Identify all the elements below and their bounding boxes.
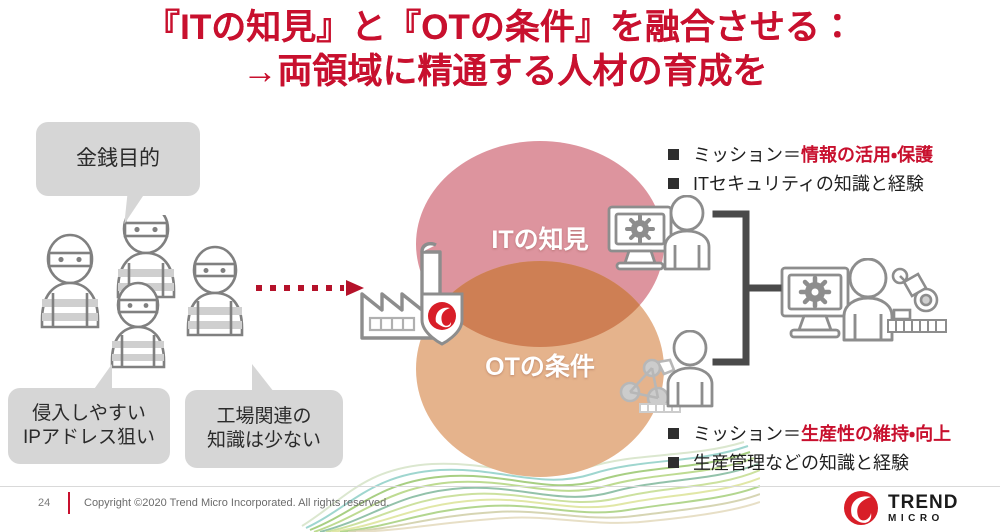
footer-divider: [0, 486, 1000, 487]
bullet-ot-skill: 生産管理などの知識と経験: [693, 449, 909, 475]
bullet-square-icon: [668, 428, 679, 439]
bullet-it-mission-highlight: 情報の活用・保護: [801, 145, 933, 165]
bullet-square-icon: [668, 178, 679, 189]
bubble-ip-line1: 侵入しやすい: [32, 403, 146, 424]
bullet-it-mission-prefix: ミッション＝: [693, 145, 801, 165]
bubble-factory-knowledge: 工場関連の 知識は少ない: [185, 390, 343, 468]
bubble-factory-line2: 知識は少ない: [207, 430, 321, 451]
hacker-figure-icon: [188, 247, 242, 335]
page-number: 24: [38, 497, 50, 509]
bullet-item: ミッション＝生産性の維持・向上: [668, 420, 951, 446]
bullet-item: ITセキュリティの知識と経験: [668, 170, 933, 196]
bubble-factory-line1: 工場関連の: [216, 406, 311, 427]
bullet-ot-mission-highlight: 生産性の維持・向上: [801, 424, 951, 444]
combined-it-ot-icon: [778, 258, 948, 358]
merge-bracket-icon: [712, 208, 792, 368]
bubble-money: 金銭目的: [36, 122, 200, 196]
title-line-1: 『ITの知見』と『OTの条件』を融合させる：: [0, 6, 1000, 50]
gear-icon: [801, 278, 829, 306]
bubble-money-text: 金銭目的: [68, 146, 168, 173]
trend-micro-logo-icon: TREND MICRO: [842, 488, 982, 528]
bullet-square-icon: [668, 149, 679, 160]
hacker-figure-icon: [42, 235, 98, 327]
slide-canvas: 『ITの知見』と『OTの条件』を融合させる： →両領域に精通する人材の育成を: [0, 0, 1000, 532]
footer-accent-rule: [68, 492, 70, 514]
bullet-square-icon: [668, 457, 679, 468]
page-title: 『ITの知見』と『OTの条件』を融合させる： →両領域に精通する人材の育成を: [0, 6, 1000, 94]
bubble-tail-factory: [252, 364, 274, 392]
robot-arm-icon: [888, 269, 946, 332]
gear-icon: [627, 216, 653, 242]
hacker-figure-icon: [112, 283, 164, 367]
bullet-it-skill: ITセキュリティの知識と経験: [693, 170, 924, 196]
red-dotted-arrow-icon: [256, 280, 364, 296]
bubble-ip-address: 侵入しやすい IPアドレス狙い: [8, 388, 170, 464]
logo-text-micro: MICRO: [888, 514, 958, 524]
person-icon: [844, 259, 892, 340]
bullet-item: ミッション＝情報の活用・保護: [668, 141, 933, 167]
bullet-item: 生産管理などの知識と経験: [668, 449, 951, 475]
copyright-text: Copyright ©2020 Trend Micro Incorporated…: [84, 497, 389, 509]
bubble-tail-money: [124, 192, 145, 224]
bubble-ip-line2: IPアドレス狙い: [23, 427, 155, 448]
bullet-ot-mission-prefix: ミッション＝: [693, 424, 801, 444]
bullet-list-it: ミッション＝情報の活用・保護 ITセキュリティの知識と経験: [668, 141, 933, 199]
logo-text-trend: TREND: [888, 493, 958, 512]
factory-with-shield: [356, 242, 476, 347]
title-line-2: →両領域に精通する人材の育成を: [0, 50, 1000, 94]
it-professional-icon: [605, 195, 715, 290]
bullet-list-ot: ミッション＝生産性の維持・向上 生産管理などの知識と経験: [668, 420, 951, 478]
hacker-group: [28, 215, 368, 385]
